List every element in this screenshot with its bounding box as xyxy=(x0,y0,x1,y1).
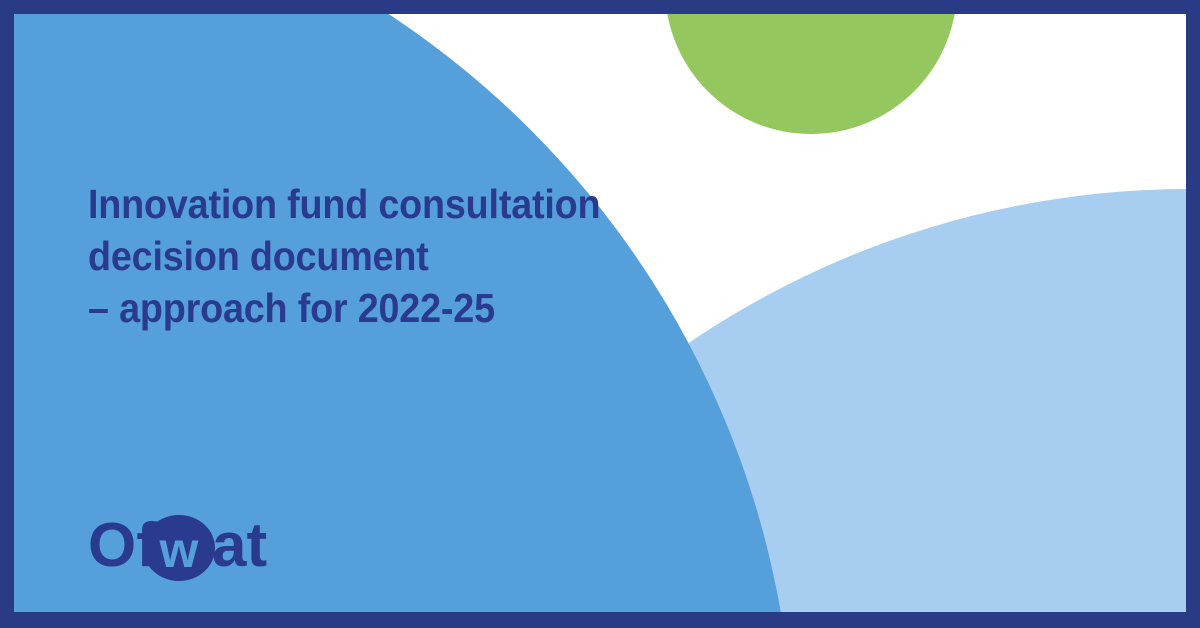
ofwat-logo-badge-letter: w xyxy=(159,522,199,578)
page-title-line-1: Innovation fund consultation xyxy=(88,178,677,230)
page-title-line-2: decision document xyxy=(88,230,677,282)
ofwat-logo-text-after: at xyxy=(212,511,267,580)
page-title: Innovation fund consultation decision do… xyxy=(88,178,728,334)
page-title-line-3: – approach for 2022-25 xyxy=(88,282,677,334)
ofwat-logo[interactable]: Of w at xyxy=(88,508,274,584)
cover-page: Innovation fund consultation decision do… xyxy=(0,0,1200,628)
